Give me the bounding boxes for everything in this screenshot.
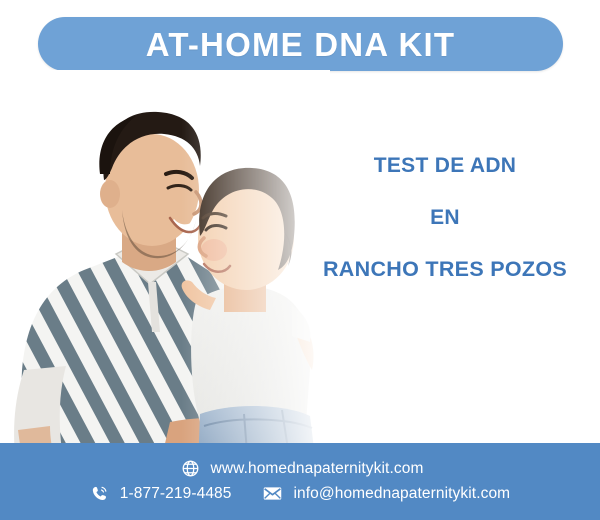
family-photo-illustration bbox=[0, 70, 330, 465]
phone-text: 1-877-219-4485 bbox=[120, 486, 232, 502]
email-text: info@homednapaternitykit.com bbox=[294, 486, 511, 502]
email-contact[interactable]: info@homednapaternitykit.com bbox=[262, 483, 511, 504]
headline-line-1: TEST DE ADN bbox=[300, 155, 590, 176]
title-banner: AT-HOME DNA KIT bbox=[38, 17, 563, 71]
poster-canvas: AT-HOME DNA KIT bbox=[0, 0, 600, 520]
website-text: www.homednapaternitykit.com bbox=[211, 461, 424, 477]
phone-contact[interactable]: 1-877-219-4485 bbox=[90, 484, 232, 503]
website-contact[interactable]: www.homednapaternitykit.com bbox=[181, 459, 424, 478]
headline-block: TEST DE ADN EN RANCHO TRES POZOS bbox=[300, 155, 590, 281]
footer-row-website: www.homednapaternitykit.com bbox=[177, 459, 424, 478]
banner-title-text: AT-HOME DNA KIT bbox=[146, 28, 455, 61]
footer-row-phone-email: 1-877-219-4485 info@homednapaternitykit.… bbox=[90, 483, 510, 504]
headline-line-3: RANCHO TRES POZOS bbox=[300, 259, 590, 281]
headline-line-2: EN bbox=[300, 207, 590, 228]
envelope-icon bbox=[262, 483, 283, 504]
phone-icon bbox=[90, 484, 109, 503]
footer-contact-bar: www.homednapaternitykit.com 1-877-219-44… bbox=[0, 443, 600, 520]
family-photo bbox=[0, 70, 330, 465]
globe-icon bbox=[181, 459, 200, 478]
